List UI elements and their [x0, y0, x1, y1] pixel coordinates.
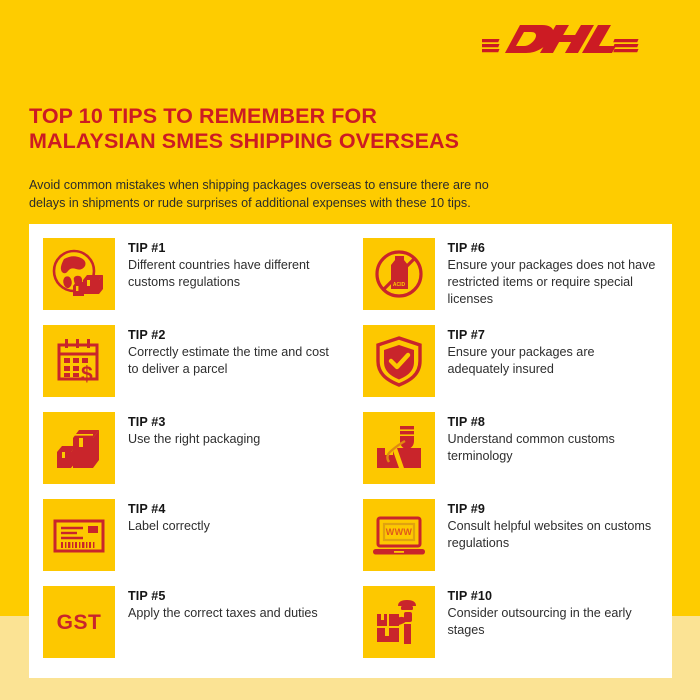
tip-text: Ensure your packages does not have restr…	[448, 257, 660, 308]
tip-text: Consult helpful websites on customs regu…	[448, 518, 660, 552]
subtitle-line-2: delays in shipments or rude surprises of…	[29, 194, 589, 212]
tip-label: TIP #3	[128, 414, 260, 430]
tip-label: TIP #5	[128, 588, 318, 604]
acid-label-text: ACID	[392, 282, 405, 288]
tip-label: TIP #6	[448, 240, 660, 256]
gst-text-icon: GST	[43, 586, 115, 658]
tip-body-4: TIP #4 Label correctly	[115, 499, 210, 535]
shipping-label-barcode-icon	[43, 499, 115, 571]
tip-text: Use the right packaging	[128, 431, 260, 448]
subtitle-line-1: Avoid common mistakes when shipping pack…	[29, 178, 489, 192]
svg-text:$: $	[81, 363, 93, 386]
tip-body-6: TIP #6 Ensure your packages does not hav…	[435, 238, 660, 308]
tip-text: Apply the correct taxes and duties	[128, 605, 318, 622]
tip-body-1: TIP #1 Different countries have differen…	[115, 238, 341, 291]
tip-text: Different countries have different custo…	[128, 257, 341, 291]
tip-body-8: TIP #8 Understand common customs termino…	[435, 412, 660, 465]
tip-body-7: TIP #7 Ensure your packages are adequate…	[435, 325, 660, 378]
customs-officer-inspect-icon	[363, 412, 435, 484]
tip-item-9[interactable]: WWW TIP #9 Consult helpful websites on c…	[363, 499, 663, 586]
tip-label: TIP #9	[448, 501, 660, 517]
headline-line-2: MALAYSIAN SMES SHIPPING OVERSEAS	[29, 129, 649, 154]
tip-body-3: TIP #3 Use the right packaging	[115, 412, 260, 448]
tip-text: Consider outsourcing in the early stages	[448, 605, 660, 639]
tip-item-4[interactable]: TIP #4 Label correctly	[43, 499, 341, 586]
infographic-poster: TOP 10 TIPS TO REMEMBER FOR MALAYSIAN SM…	[0, 0, 700, 700]
tip-body-9: TIP #9 Consult helpful websites on custo…	[435, 499, 660, 552]
tips-columns: TIP #1 Different countries have differen…	[29, 224, 672, 678]
subtitle: Avoid common mistakes when shipping pack…	[29, 176, 589, 212]
tips-card: TIP #1 Different countries have differen…	[29, 224, 672, 678]
worker-boxes-icon	[363, 586, 435, 658]
headline-line-1: TOP 10 TIPS TO REMEMBER FOR	[29, 104, 377, 128]
tip-item-5[interactable]: GST TIP #5 Apply the correct taxes and d…	[43, 586, 341, 673]
tip-text: Ensure your packages are adequately insu…	[448, 344, 660, 378]
shield-check-icon	[363, 325, 435, 397]
dhl-logo	[482, 18, 662, 64]
boxes-icon	[43, 412, 115, 484]
tip-item-10[interactable]: TIP #10 Consider outsourcing in the earl…	[363, 586, 663, 673]
tip-item-8[interactable]: TIP #8 Understand common customs termino…	[363, 412, 663, 499]
tip-body-2: TIP #2 Correctly estimate the time and c…	[115, 325, 341, 378]
tips-column-left: TIP #1 Different countries have differen…	[29, 224, 351, 678]
tip-label: TIP #2	[128, 327, 341, 343]
tip-text: Understand common customs terminology	[448, 431, 660, 465]
tip-label: TIP #7	[448, 327, 660, 343]
calendar-dollar-icon: $	[43, 325, 115, 397]
www-label-text: WWW	[385, 527, 412, 537]
tip-text: Correctly estimate the time and cost to …	[128, 344, 341, 378]
no-restricted-items-icon: ACID	[363, 238, 435, 310]
page-title: TOP 10 TIPS TO REMEMBER FOR MALAYSIAN SM…	[29, 104, 649, 154]
tip-text: Label correctly	[128, 518, 210, 535]
tip-item-3[interactable]: TIP #3 Use the right packaging	[43, 412, 341, 499]
tip-item-1[interactable]: TIP #1 Different countries have differen…	[43, 238, 341, 325]
gst-icon-text: GST	[57, 611, 102, 634]
tips-column-right: ACID TIP #6 Ensure your packages does no…	[351, 224, 673, 678]
tip-body-5: TIP #5 Apply the correct taxes and dutie…	[115, 586, 318, 622]
tip-body-10: TIP #10 Consider outsourcing in the earl…	[435, 586, 660, 639]
globe-boxes-icon	[43, 238, 115, 310]
tip-label: TIP #4	[128, 501, 210, 517]
tip-item-2[interactable]: $ TIP #2 Correctly estimate the time and…	[43, 325, 341, 412]
tip-item-7[interactable]: TIP #7 Ensure your packages are adequate…	[363, 325, 663, 412]
tip-label: TIP #8	[448, 414, 660, 430]
tip-label: TIP #1	[128, 240, 341, 256]
laptop-www-icon: WWW	[363, 499, 435, 571]
tip-item-6[interactable]: ACID TIP #6 Ensure your packages does no…	[363, 238, 663, 325]
tip-label: TIP #10	[448, 588, 660, 604]
